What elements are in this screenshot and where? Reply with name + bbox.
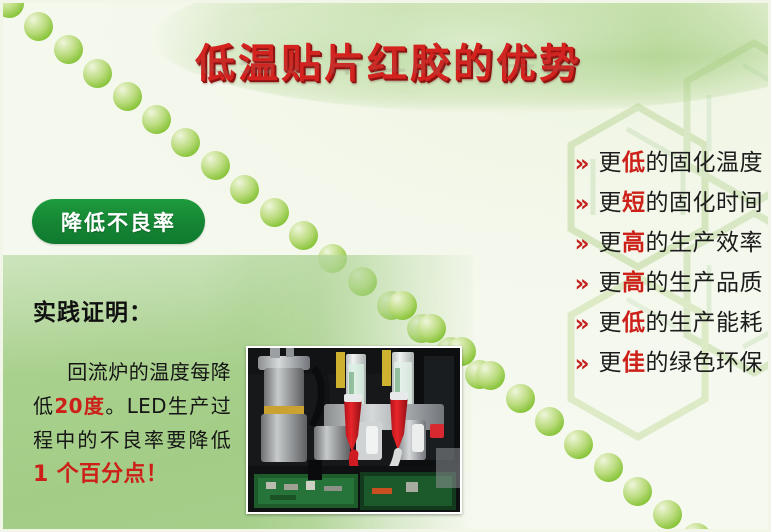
advantage-label: 更高的生产品质: [599, 263, 764, 297]
decorative-ball: [230, 175, 259, 204]
advantage-prefix: 更: [599, 310, 623, 336]
proof-highlight-temperature: 20度: [54, 394, 105, 418]
advantage-prefix: 更: [599, 270, 623, 296]
decorative-ball: [201, 151, 230, 180]
advantage-highlight: 低: [622, 310, 646, 336]
advantage-label: 更短的固化时间: [599, 183, 764, 217]
slide-canvas: 低温贴片红胶的优势 低温贴片红胶的优势 降低不良率 »更低的固化温度»更短的固化…: [0, 0, 771, 532]
advantage-item-5: »更低的生产能耗: [293, 303, 763, 337]
advantage-highlight: 高: [622, 230, 646, 256]
proof-highlight-percent: 1 个百分点！: [33, 462, 168, 487]
advantage-item-4: »更高的生产品质: [293, 263, 763, 297]
advantage-suffix: 的生产品质: [646, 270, 764, 296]
advantage-prefix: 更: [599, 190, 623, 216]
decorative-ball: [653, 500, 682, 529]
decorative-ball: [623, 477, 652, 506]
status-badge-label: 降低不良率: [61, 207, 176, 237]
decorative-ball: [260, 198, 289, 227]
advantage-label: 更低的固化温度: [599, 143, 764, 177]
advantage-prefix: 更: [599, 350, 623, 376]
decorative-ball: [113, 82, 142, 111]
double-chevron-icon: »: [575, 233, 590, 256]
double-chevron-icon: »: [575, 153, 590, 176]
advantage-highlight: 低: [622, 150, 646, 176]
advantage-prefix: 更: [599, 230, 623, 256]
decorative-ball: [594, 453, 623, 482]
decorative-ball: [535, 407, 564, 436]
proof-heading: 实践证明：: [33, 293, 153, 327]
advantage-suffix: 的生产能耗: [646, 310, 764, 336]
advantage-suffix: 的固化温度: [646, 150, 764, 176]
advantage-prefix: 更: [599, 150, 623, 176]
advantage-suffix: 的绿色环保: [646, 350, 764, 376]
advantage-label: 更高的生产效率: [599, 223, 764, 257]
double-chevron-icon: »: [575, 313, 590, 336]
double-chevron-icon: »: [575, 193, 590, 216]
advantage-label: 更低的生产能耗: [599, 303, 764, 337]
advantage-suffix: 的固化时间: [646, 190, 764, 216]
advantage-highlight: 佳: [622, 350, 646, 376]
proof-body: 回流炉的温度每降低20度。LED生产过程中的不良率要降低 1 个百分点！: [33, 355, 231, 492]
machine-photo-graphic: [248, 348, 460, 512]
advantage-highlight: 短: [622, 190, 646, 216]
advantage-item-3: »更高的生产效率: [293, 223, 763, 257]
advantage-item-2: »更短的固化时间: [293, 183, 763, 217]
machine-photo: [246, 346, 462, 514]
advantage-suffix: 的生产效率: [646, 230, 764, 256]
decorative-ball: [506, 384, 535, 413]
advantage-highlight: 高: [622, 270, 646, 296]
decorative-ball: [142, 105, 171, 134]
advantage-item-1: »更低的固化温度: [293, 143, 763, 177]
decorative-ball: [83, 59, 112, 88]
advantage-label: 更佳的绿色环保: [599, 343, 764, 377]
double-chevron-icon: »: [575, 353, 590, 376]
double-chevron-icon: »: [575, 273, 590, 296]
decorative-ball: [54, 35, 83, 64]
status-badge: 降低不良率: [32, 199, 205, 244]
